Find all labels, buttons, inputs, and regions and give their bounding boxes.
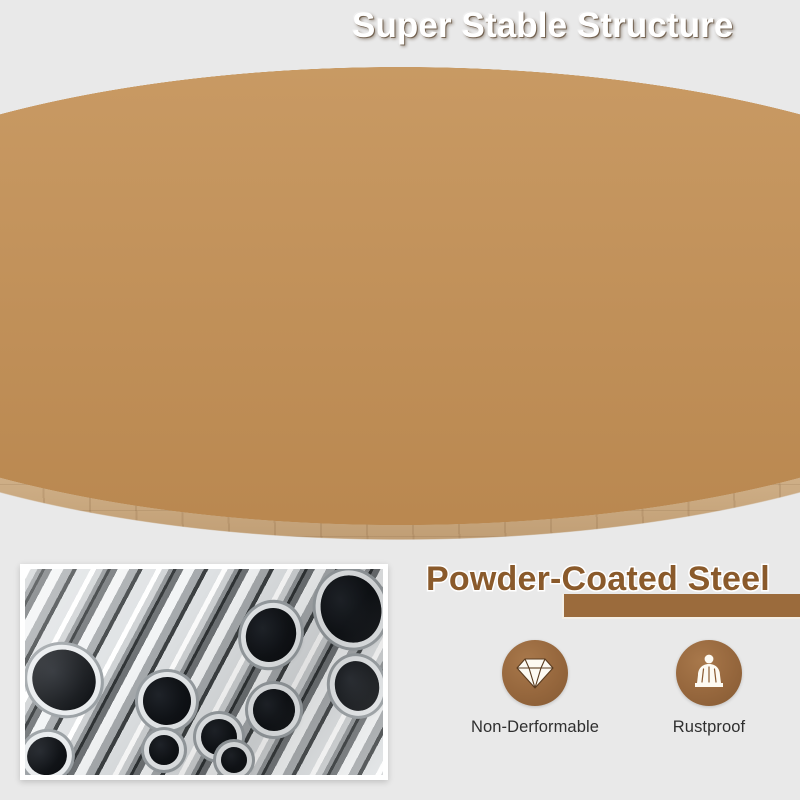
diamond-badge (502, 640, 568, 706)
feature-rustproof: Rustproof (644, 640, 774, 770)
steel-tubes-photo (20, 564, 388, 780)
feature-label: Non-Derformable (471, 718, 599, 737)
diamond-icon (516, 655, 554, 691)
arc-accent-band (0, 0, 800, 560)
headline-super-stable-structure: Super Stable Structure (352, 6, 733, 46)
crown-icon (689, 654, 729, 692)
feature-non-derformable: Non-Derformable (470, 640, 600, 770)
headline-powder-coated-steel: Powder-Coated Steel (426, 560, 770, 599)
crown-badge (676, 640, 742, 706)
product-feature-graphic: Super Stable Structure Powder-Coated Ste… (0, 0, 800, 800)
feature-badges: Non-Derformable Rus (430, 640, 790, 770)
feature-label: Rustproof (673, 718, 745, 737)
